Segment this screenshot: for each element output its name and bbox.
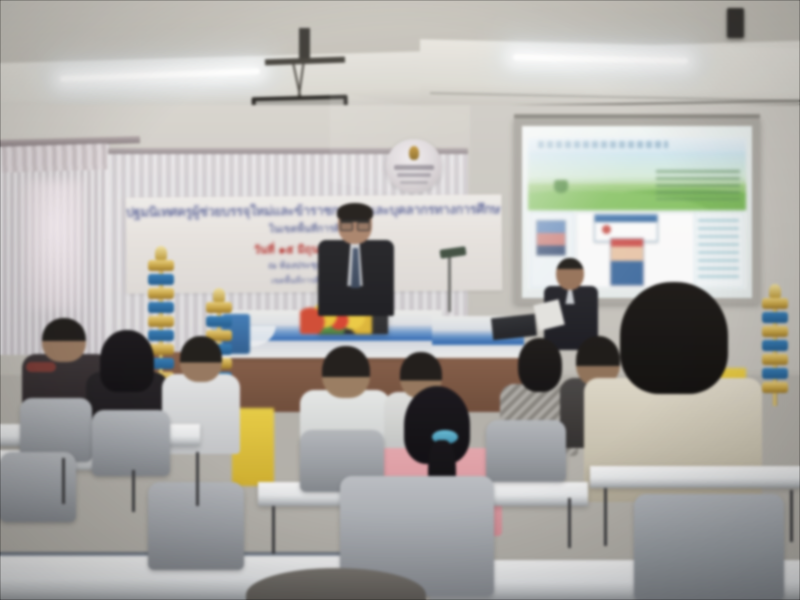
banner-line-1: ปฐมนิเทศครูผู้ช่วยบรรจุใหม่และข้าราชการค… xyxy=(126,198,502,222)
website-link-row xyxy=(698,267,739,270)
stand-tier-gold xyxy=(206,302,232,313)
website-link-row xyxy=(698,251,739,254)
stand-tier-blue xyxy=(148,274,174,285)
attendee-head-with-long-hair xyxy=(100,330,154,392)
seminar-room-photograph: ปฐมนิเทศครูผู้ช่วยบรรจุใหม่และข้าราชการค… xyxy=(0,0,800,600)
projector-mount-pole xyxy=(299,28,310,61)
table-row-right xyxy=(590,466,800,488)
stand-tier-gold xyxy=(762,382,788,393)
plaque-text-line xyxy=(397,173,431,177)
attendee-head xyxy=(246,568,426,600)
stand-tier-blue xyxy=(206,316,232,327)
chair-leg xyxy=(568,498,571,548)
curtain-pleat-header xyxy=(2,143,108,172)
website-link-row xyxy=(698,219,739,222)
stand-tier-gold xyxy=(762,354,788,365)
chair-leg xyxy=(132,470,135,512)
website-link-row xyxy=(698,227,739,230)
stand-tier-gold xyxy=(762,298,788,309)
website-link-row xyxy=(698,259,739,262)
standing-man-head xyxy=(556,258,584,290)
website-portrait-thumbnail-1 xyxy=(536,220,566,256)
chair-center-2 xyxy=(486,420,566,482)
stand-finial-icon xyxy=(769,284,781,298)
chair-foreground-right xyxy=(634,494,784,600)
stand-tier-blue xyxy=(762,312,788,323)
stand-tier-blue xyxy=(762,368,788,379)
stand-tier-blue xyxy=(762,340,788,351)
laptop-on-table xyxy=(491,314,537,340)
attendee-head xyxy=(180,336,222,382)
banner-line-5: เขตพื้นที่การศึกษา เขต ๑ xyxy=(126,272,502,288)
attendee-head xyxy=(322,346,370,398)
chair-leg xyxy=(62,458,65,504)
stand-tier-gold xyxy=(762,326,788,337)
dialog-title-bar xyxy=(595,215,657,222)
chair-leg xyxy=(196,452,199,506)
presenter-hair xyxy=(337,203,373,221)
stand-finial-icon xyxy=(155,246,167,260)
plaque-text-line xyxy=(400,181,428,184)
stand-tier-blue xyxy=(148,302,174,313)
stand-tier-gold xyxy=(148,288,174,299)
website-title-bar xyxy=(528,138,746,152)
window-daylight-glow xyxy=(22,180,88,310)
ceremonial-gold-tier-stand-right xyxy=(762,296,788,406)
ceiling-speaker-icon xyxy=(727,8,744,38)
banner-line-2: ในเขตพื้นที่การศึกษา xyxy=(126,220,502,238)
stand-finial-icon xyxy=(213,288,225,302)
attendee-shoulder-stripe xyxy=(26,362,56,372)
plaque-crest-icon xyxy=(409,146,419,160)
stand-tier-gold xyxy=(148,260,174,271)
website-portrait-thumbnail-2 xyxy=(610,238,644,286)
banner-line-4: ณ ห้องประชุมสำนักงาน xyxy=(126,256,502,273)
attendee-back-of-head-bottom xyxy=(246,568,426,600)
dialog-status-icon xyxy=(602,225,611,234)
event-banner: ปฐมนิเทศครูผู้ช่วยบรรจุใหม่และข้าราชการค… xyxy=(126,194,503,293)
plaque-text-line xyxy=(394,165,434,170)
chair-leg xyxy=(604,488,607,546)
institutional-wall-plaque xyxy=(386,139,442,193)
presenter-at-lectern xyxy=(316,204,396,314)
attendee-head xyxy=(42,318,86,362)
website-link-row xyxy=(698,275,739,278)
website-title-text xyxy=(538,141,668,148)
chair-leg xyxy=(790,490,793,542)
website-link-row xyxy=(698,235,739,238)
attendee-head xyxy=(620,282,728,394)
hero-tree-icon xyxy=(554,180,568,196)
presenter-glasses-icon xyxy=(340,220,370,229)
website-hero-banner xyxy=(528,152,746,210)
website-link-row xyxy=(698,243,739,246)
chair-back-left-2 xyxy=(92,410,170,476)
hero-text-block xyxy=(656,170,740,200)
website-right-column xyxy=(694,212,744,288)
microphone-stand xyxy=(448,252,451,312)
chair-leg xyxy=(272,506,275,554)
attendee-head xyxy=(518,338,562,392)
stand-tier-gold xyxy=(148,316,174,327)
